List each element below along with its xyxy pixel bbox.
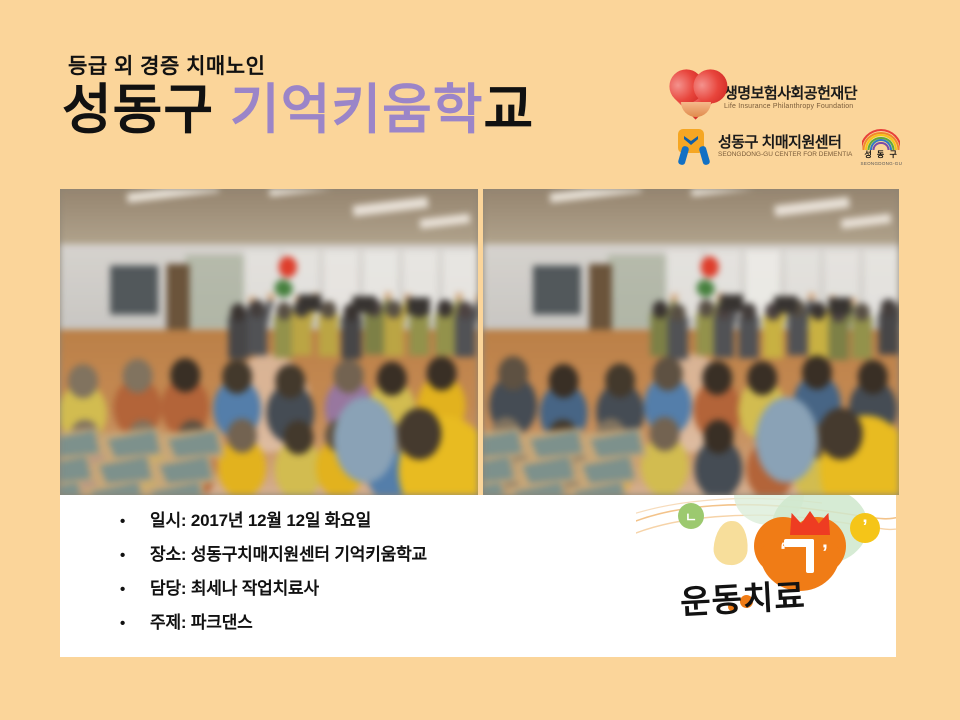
details-panel: •일시: 2017년 12월 12일 화요일•장소: 성동구치매지원센터 기억키…	[60, 495, 896, 657]
rainbow-icon: 성 동 구 SEONGDONG-GU	[858, 128, 904, 166]
detail-item: •담당: 최세나 작업치료사	[120, 580, 427, 597]
giyeok-glyph-icon	[784, 539, 814, 573]
page-title: 성동구 기억키움학교	[62, 83, 534, 137]
bullet-icon: •	[120, 514, 150, 529]
photo-right	[483, 189, 899, 495]
logo-life-insurance-foundation: 생명보험사회공헌재단 Life Insurance Philanthropy F…	[676, 76, 902, 122]
logo-group: 생명보험사회공헌재단 Life Insurance Philanthropy F…	[676, 76, 902, 170]
title-segment-black-2: 교	[483, 80, 534, 140]
bullet-icon: •	[120, 616, 150, 631]
rainbow-logo-korean: 성 동 구	[858, 149, 904, 160]
decoration-graphic: ㄴ ’ ‘ ’ 운동치료	[636, 495, 896, 657]
logo-korean-name: 생명보험사회공헌재단	[724, 86, 857, 102]
logo-english-name: Life Insurance Philanthropy Foundation	[724, 103, 857, 111]
person-bird-icon	[676, 129, 712, 165]
page-subtitle: 등급 외 경증 치매노인	[68, 50, 265, 80]
yellow-badge-icon: ’	[850, 513, 880, 543]
detail-text: 장소: 성동구치매지원센터 기억키움학교	[150, 546, 427, 563]
quote-open: ‘	[780, 545, 786, 556]
logo-korean-name: 성동구 치매지원센터	[718, 135, 852, 151]
title-segment-black-1: 성동구	[62, 80, 230, 140]
decoration-label: 운동치료	[679, 566, 861, 623]
detail-item: •일시: 2017년 12월 12일 화요일	[120, 512, 427, 529]
photo-right-image	[483, 189, 899, 495]
photo-strip	[60, 189, 899, 495]
rainbow-logo-english: SEONGDONG-GU	[858, 161, 904, 166]
bullet-icon: •	[120, 582, 150, 597]
quote-close: ’	[822, 547, 828, 558]
slide-canvas: 등급 외 경증 치매노인 성동구 기억키움학교 생명보험사회공헌재단 Life …	[0, 0, 960, 720]
photo-left	[60, 189, 478, 495]
heart-hand-icon	[676, 79, 720, 119]
detail-text: 일시: 2017년 12월 12일 화요일	[150, 512, 371, 529]
detail-item: •장소: 성동구치매지원센터 기억키움학교	[120, 546, 427, 563]
photo-left-image	[60, 189, 478, 495]
logo-english-name: SEONGDONG-GU CENTER FOR DEMENTIA	[718, 151, 852, 159]
details-list: •일시: 2017년 12월 12일 화요일•장소: 성동구치매지원센터 기억키…	[120, 512, 427, 648]
detail-item: •주제: 파크댄스	[120, 614, 427, 631]
green-badge-icon: ㄴ	[678, 503, 704, 529]
bullet-icon: •	[120, 548, 150, 563]
logo-seongdong-dementia-center: 성동구 치매지원센터 SEONGDONG-GU CENTER FOR DEMEN…	[676, 124, 902, 170]
detail-text: 주제: 파크댄스	[150, 614, 253, 631]
detail-text: 담당: 최세나 작업치료사	[150, 580, 319, 597]
title-segment-purple: 기억키움학	[230, 80, 483, 140]
